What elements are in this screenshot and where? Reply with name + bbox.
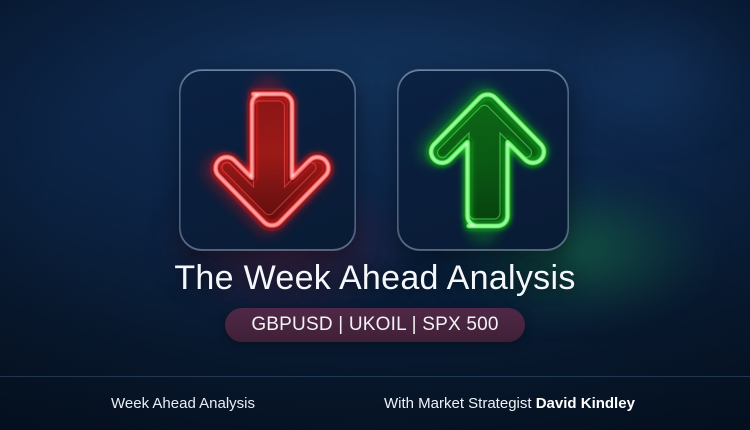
down-arrow-neon-icon — [180, 70, 355, 250]
bearish-arrow-panel — [180, 70, 355, 250]
background-vignette — [0, 0, 750, 430]
footer-series-label: Week Ahead Analysis — [111, 395, 255, 412]
instruments-badge: GBPUSD | UKOIL | SPX 500 — [225, 308, 524, 342]
week-ahead-analysis-graphic: The Week Ahead Analysis GBPUSD | UKOIL |… — [0, 0, 750, 430]
footer-presenter: With Market Strategist David Kindley — [384, 395, 635, 412]
up-arrow-neon-icon — [398, 70, 568, 250]
page-title: The Week Ahead Analysis — [0, 259, 750, 298]
footer-presenter-name: David Kindley — [536, 395, 635, 412]
footer-bar: Week Ahead Analysis With Market Strategi… — [0, 376, 750, 430]
bullish-arrow-panel — [398, 70, 568, 250]
footer-top-divider — [0, 376, 750, 377]
footer-presenter-prefix: With Market Strategist — [384, 395, 536, 412]
instruments-badge-wrapper: GBPUSD | UKOIL | SPX 500 — [0, 308, 750, 342]
